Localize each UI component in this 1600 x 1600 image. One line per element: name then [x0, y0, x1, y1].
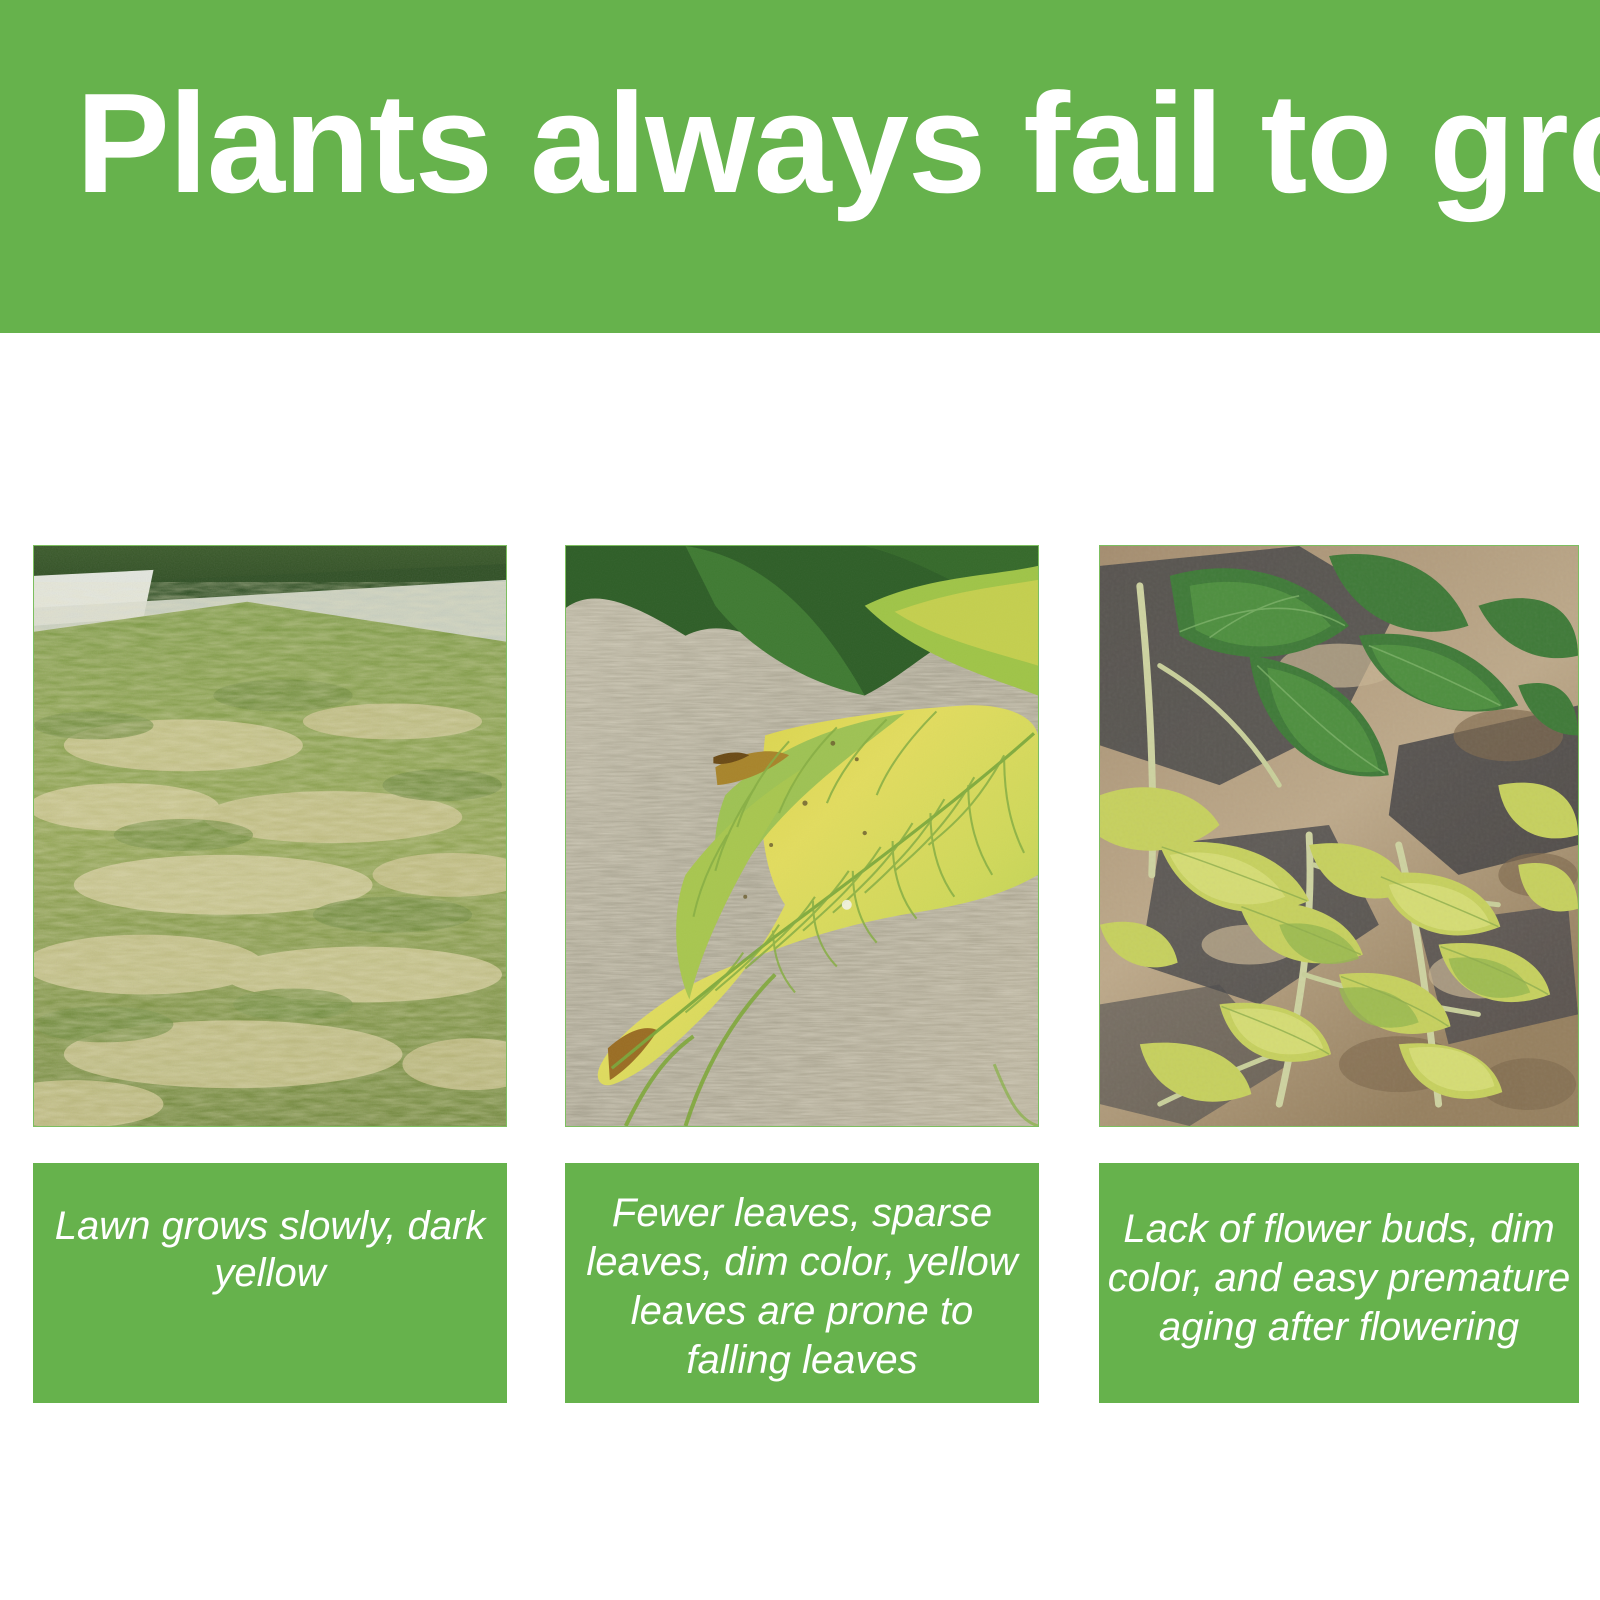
caption-box-lawn: Lawn grows slowly, dark yellow: [33, 1163, 507, 1403]
caption-text-field: Lack of flower buds, dim color, and easy…: [1107, 1205, 1571, 1352]
caption-text-leaf: Fewer leaves, sparse leaves, dim color, …: [573, 1189, 1031, 1385]
header-banner: Plants always fail to grow well: [0, 0, 1600, 333]
caption-text-lawn: Lawn grows slowly, dark yellow: [41, 1203, 499, 1297]
yellowing-tomato-leaf-photo: [565, 545, 1039, 1127]
patchy-yellow-lawn-photo: [33, 545, 507, 1127]
poster-root: Plants always fail to grow well: [0, 0, 1600, 1600]
caption-box-leaf: Fewer leaves, sparse leaves, dim color, …: [565, 1163, 1039, 1403]
panel-lawn: Lawn grows slowly, dark yellow: [33, 545, 507, 1403]
page-title: Plants always fail to grow well: [76, 78, 1510, 210]
panel-field: Lack of flower buds, dim color, and easy…: [1099, 545, 1579, 1403]
chlorotic-tomato-plants-photo: [1099, 545, 1579, 1127]
panel-leaf: Fewer leaves, sparse leaves, dim color, …: [565, 545, 1039, 1403]
caption-box-field: Lack of flower buds, dim color, and easy…: [1099, 1163, 1579, 1403]
panel-grid: Lawn grows slowly, dark yellow: [33, 545, 1581, 1403]
